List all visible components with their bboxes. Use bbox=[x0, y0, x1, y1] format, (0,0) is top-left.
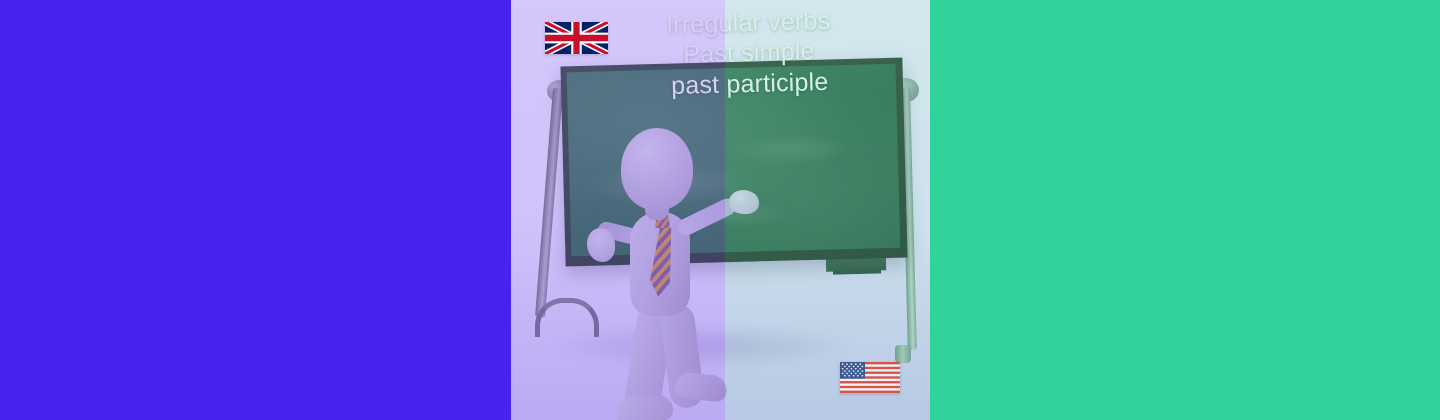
teacher-mannequin bbox=[583, 128, 763, 420]
easel-foot-right bbox=[895, 345, 911, 363]
mannequin-foot-left bbox=[614, 394, 674, 420]
flag-uk-icon bbox=[545, 22, 608, 54]
chalk-tray-lower bbox=[833, 265, 881, 274]
color-panel-emerald bbox=[930, 0, 1440, 420]
mannequin-hand-left bbox=[587, 228, 615, 262]
chalkboard-line-1: Irregular verbs bbox=[650, 5, 847, 40]
mannequin-head bbox=[621, 128, 693, 210]
color-panel-violet bbox=[0, 0, 511, 420]
mannequin-foot-right bbox=[674, 371, 728, 402]
flag-us-icon bbox=[840, 362, 900, 393]
hero-banner: Irregular verbs Past simple past partici… bbox=[0, 0, 1440, 420]
mannequin-hand-right bbox=[729, 190, 759, 214]
classroom-scene: Irregular verbs Past simple past partici… bbox=[511, 0, 930, 420]
